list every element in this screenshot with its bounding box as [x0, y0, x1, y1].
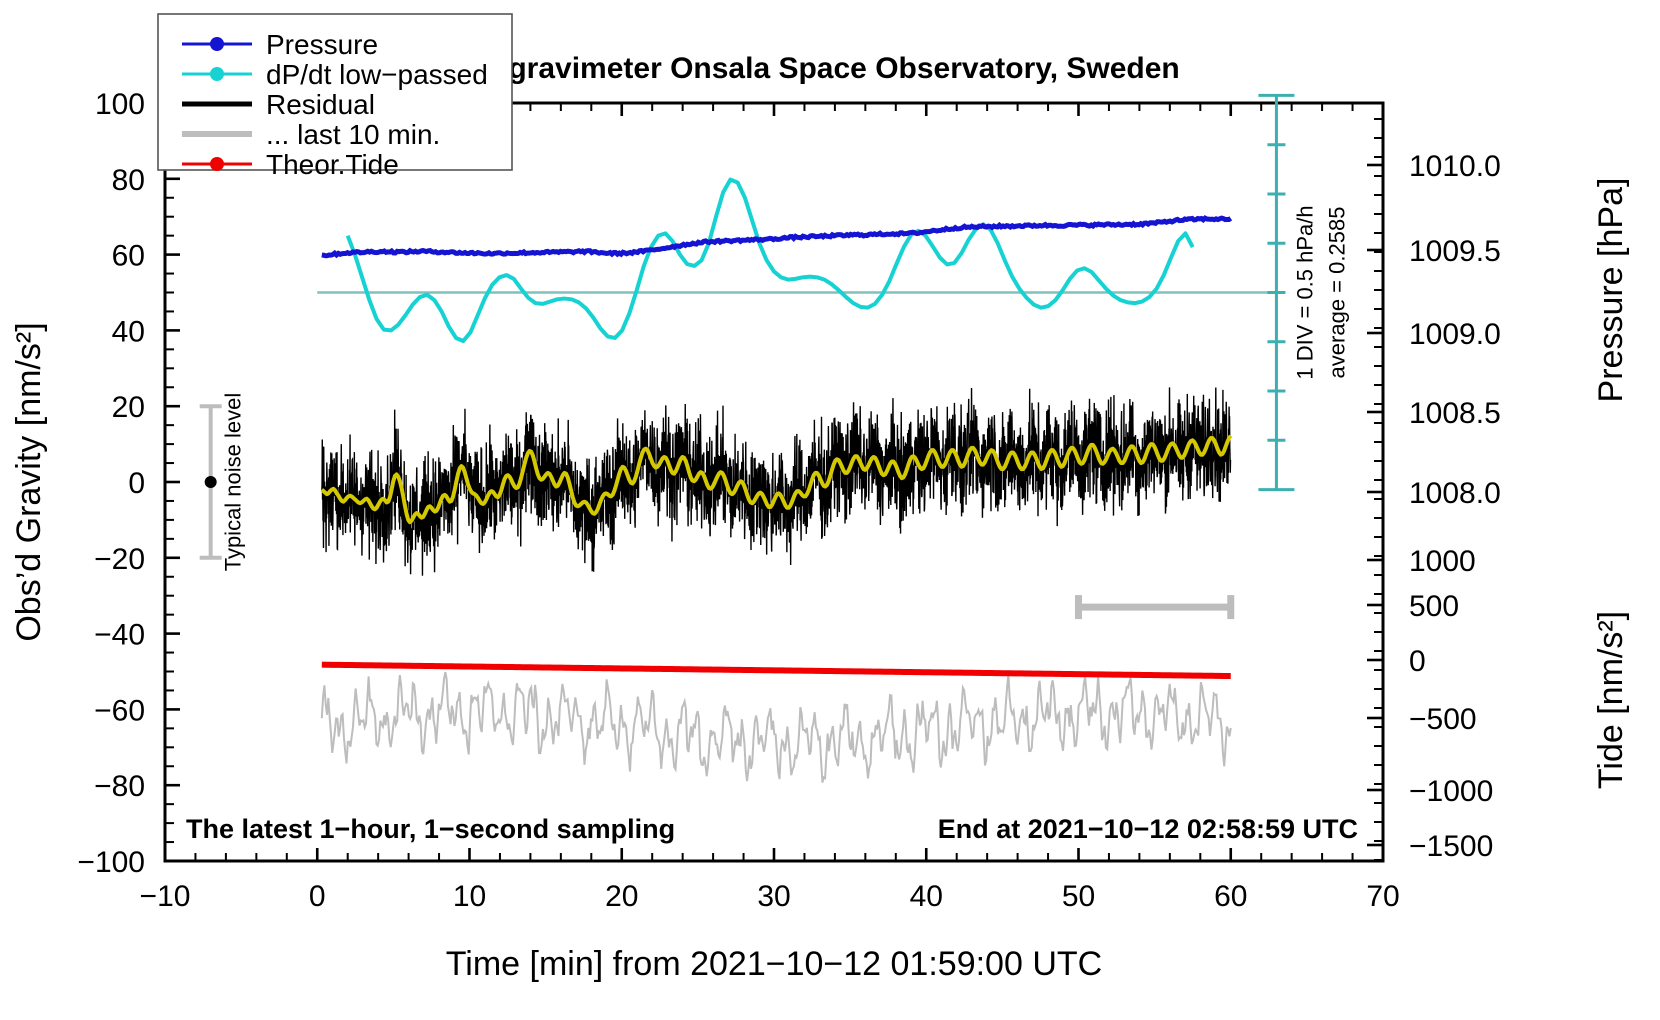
chart-canvas: −10010203040506070100806040200−20−40−60−…: [0, 0, 1660, 1020]
series-theor-tide: [322, 665, 1231, 676]
series-last-10-min: [322, 672, 1231, 782]
legend-marker: [210, 37, 224, 51]
y-tick-label-left: −20: [94, 543, 145, 576]
y-tick-label-left: 40: [112, 315, 145, 348]
tide-tick-label: 0: [1409, 645, 1426, 678]
footer-note-right: End at 2021−10−12 02:58:59 UTC: [938, 814, 1358, 844]
x-tick-label: 60: [1214, 880, 1247, 913]
y-axis-title-left: Obs’d Gravity [nm/s²]: [10, 322, 48, 641]
x-tick-label: 0: [309, 880, 326, 913]
x-axis-title: Time [min] from 2021−10−12 01:59:00 UTC: [446, 945, 1102, 983]
legend-marker: [210, 67, 224, 81]
pressure-tick-label: 1009.0: [1409, 318, 1501, 351]
y-axis-title-pressure: Pressure [hPa]: [1592, 178, 1630, 403]
legend-marker: [210, 157, 224, 171]
pressure-tick-label: 1010.0: [1409, 150, 1501, 183]
y-tick-label-left: 0: [128, 467, 145, 500]
x-tick-label: 40: [910, 880, 943, 913]
x-tick-label: 20: [605, 880, 638, 913]
y-tick-label-left: −80: [94, 770, 145, 803]
tide-tick-label: −500: [1409, 703, 1477, 736]
last-10-min-span-bar: [1079, 595, 1231, 619]
y-tick-label-left: 60: [112, 240, 145, 273]
tide-tick-label: 500: [1409, 590, 1459, 623]
x-tick-label: −10: [140, 880, 191, 913]
scalebar-average-label: average = 0.2585: [1324, 207, 1349, 379]
x-tick-label: 50: [1062, 880, 1095, 913]
footer-note-left: The latest 1−hour, 1−second sampling: [186, 814, 675, 844]
y-axis-title-tide: Tide [nm/s²]: [1592, 611, 1630, 789]
pressure-tick-label: 1008.0: [1409, 477, 1501, 510]
series-pressure: [322, 218, 1231, 256]
y-tick-label-left: −60: [94, 694, 145, 727]
typical-noise-level: Typical noise level: [200, 393, 246, 572]
scalebar-div-label: 1 DIV = 0.5 hPa/h: [1292, 205, 1317, 379]
y-tick-label-left: −40: [94, 619, 145, 652]
legend-label: ... last 10 min.: [266, 119, 440, 150]
x-tick-label: 30: [757, 880, 790, 913]
tide-tick-label: −1500: [1409, 830, 1493, 863]
legend[interactable]: PressuredP/dt low−passedResidual... last…: [158, 14, 512, 180]
x-tick-label: 70: [1366, 880, 1399, 913]
x-tick-label: 10: [453, 880, 486, 913]
data-series-layer: [317, 180, 1276, 783]
legend-label: Theor.Tide: [266, 149, 399, 180]
series-dpdt: [348, 180, 1193, 341]
tide-tick-label: 1000: [1409, 545, 1476, 578]
y-tick-label-left: −100: [77, 846, 145, 879]
tide-tick-label: −1000: [1409, 775, 1493, 808]
y-tick-label-left: 80: [112, 164, 145, 197]
y-tick-label-left: 20: [112, 391, 145, 424]
typical-noise-level-label: Typical noise level: [221, 393, 246, 572]
pressure-rate-scalebar: 1 DIV = 0.5 hPa/haverage = 0.2585: [1258, 95, 1349, 489]
pressure-tick-label: 1008.5: [1409, 397, 1501, 430]
legend-label: dP/dt low−passed: [266, 59, 488, 90]
legend-label: Pressure: [266, 29, 378, 60]
legend-label: Residual: [266, 89, 375, 120]
gravimeter-plot: −10010203040506070100806040200−20−40−60−…: [0, 0, 1660, 1020]
y-tick-label-left: 100: [95, 88, 145, 121]
pressure-tick-label: 1009.5: [1409, 235, 1501, 268]
